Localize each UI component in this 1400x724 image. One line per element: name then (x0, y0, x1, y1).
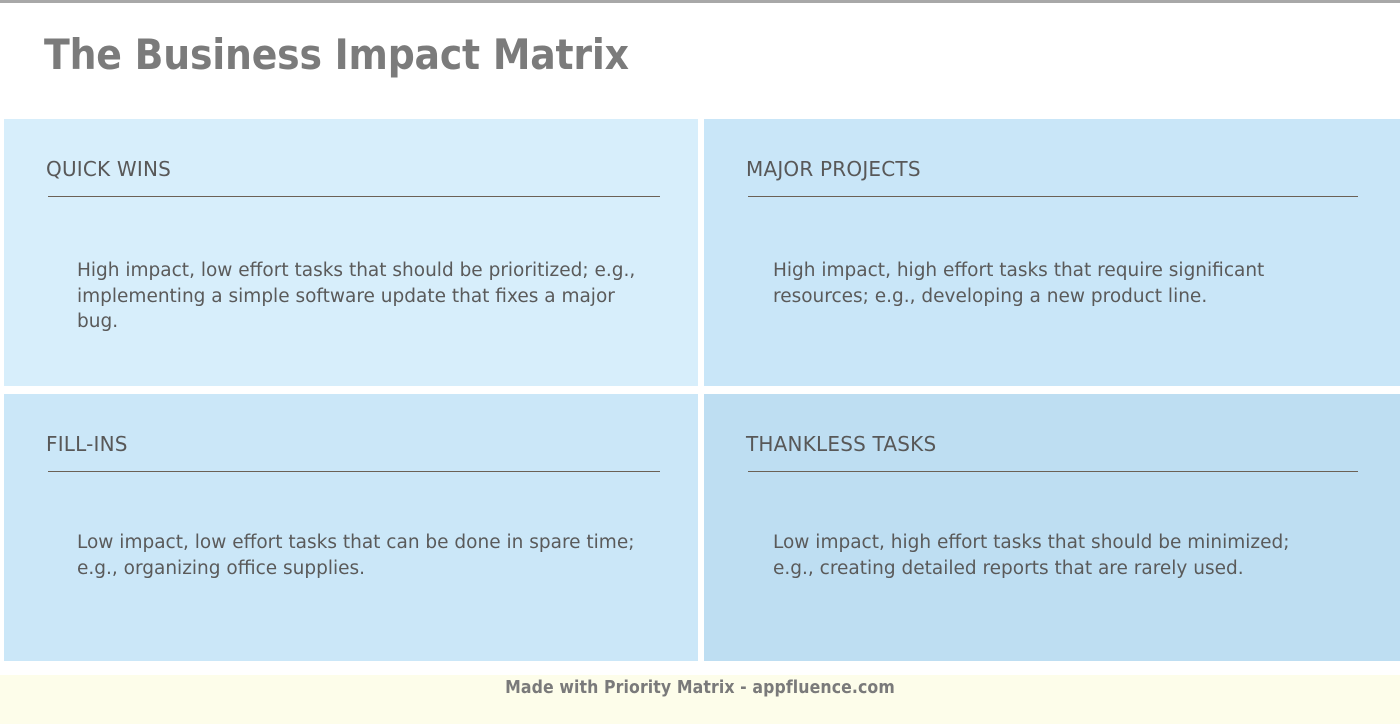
quadrant-title-rule (748, 196, 1358, 197)
quadrant-body-major-projects: High impact, high effort tasks that requ… (773, 258, 1293, 309)
quadrant-title-rule (48, 196, 660, 197)
quadrant-title-major-projects: MAJOR PROJECTS (746, 157, 921, 181)
quadrant-body-quick-wins: High impact, low effort tasks that shoul… (77, 258, 647, 335)
quadrant-title-rule (748, 471, 1358, 472)
page-header: The Business Impact Matrix (0, 6, 1400, 119)
quadrant-title-fill-ins: FILL-INS (46, 432, 128, 456)
quadrant-fill-ins[interactable]: FILL-INS Low impact, low effort tasks th… (4, 394, 698, 661)
quadrant-thankless-tasks[interactable]: THANKLESS TASKS Low impact, high effort … (704, 394, 1400, 661)
footer-attribution-text: Made with Priority Matrix - appfluence.c… (505, 678, 895, 698)
quadrant-body-fill-ins: Low impact, low effort tasks that can be… (77, 530, 647, 581)
quadrant-quick-wins[interactable]: QUICK WINS High impact, low effort tasks… (4, 119, 698, 386)
page-title: The Business Impact Matrix (44, 30, 629, 79)
quadrant-major-projects[interactable]: MAJOR PROJECTS High impact, high effort … (704, 119, 1400, 386)
page-footer: Made with Priority Matrix - appfluence.c… (0, 675, 1400, 724)
quadrant-title-rule (48, 471, 660, 472)
quadrant-title-quick-wins: QUICK WINS (46, 157, 171, 181)
business-impact-matrix-page: The Business Impact Matrix QUICK WINS Hi… (0, 0, 1400, 721)
matrix-grid: QUICK WINS High impact, low effort tasks… (0, 119, 1400, 661)
quadrant-body-thankless-tasks: Low impact, high effort tasks that shoul… (773, 530, 1293, 581)
quadrant-title-thankless-tasks: THANKLESS TASKS (746, 432, 936, 456)
